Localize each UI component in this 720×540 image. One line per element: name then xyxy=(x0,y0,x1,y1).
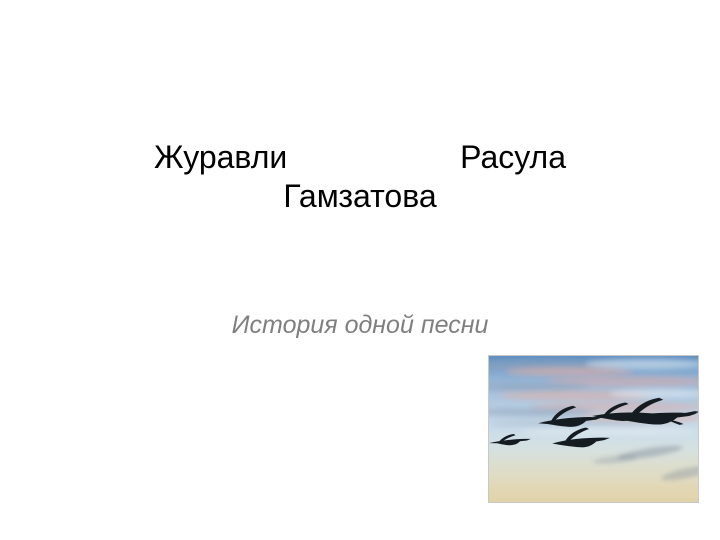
crane-bird-icon xyxy=(488,431,533,451)
crane-bird-icon xyxy=(608,394,699,437)
title-word-zhuravli: Журавли xyxy=(154,138,287,177)
title-line-2: Гамзатова xyxy=(150,177,570,216)
title-line-1: Журавли Расула xyxy=(150,138,570,177)
title-word-rasula: Расула xyxy=(460,138,566,177)
slide-title[interactable]: Журавли Расула Гамзатова xyxy=(150,138,570,217)
crane-bird-icon xyxy=(548,423,614,456)
subtitle-text: История одной песни xyxy=(120,310,600,340)
cranes-photo[interactable] xyxy=(488,355,699,503)
presentation-slide: Журавли Расула Гамзатова История одной п… xyxy=(0,0,720,540)
slide-subtitle[interactable]: История одной песни xyxy=(120,310,600,340)
